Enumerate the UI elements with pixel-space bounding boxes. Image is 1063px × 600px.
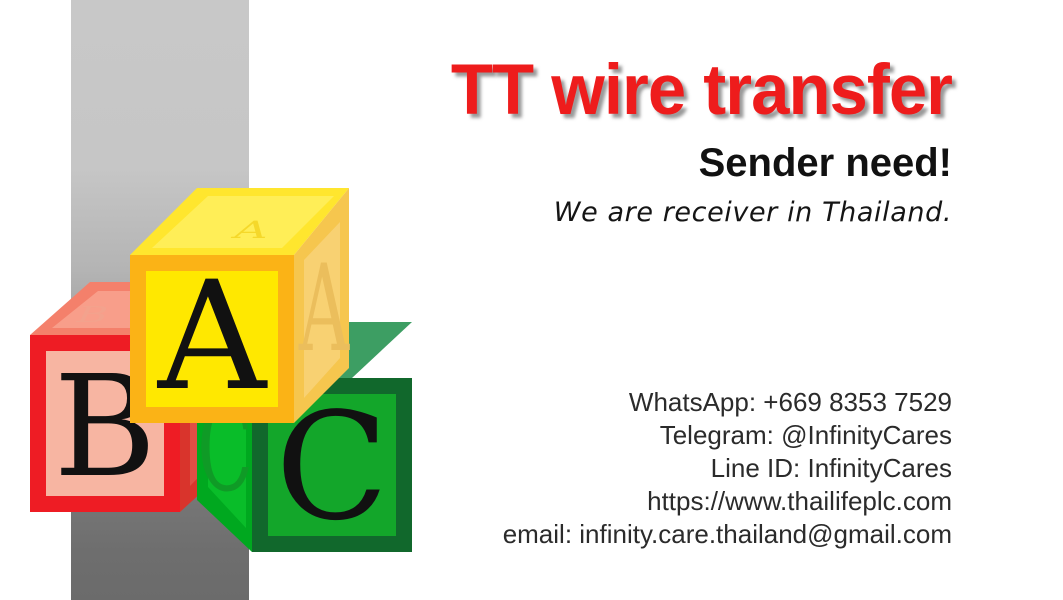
contact-line-telegram: Telegram: @InfinityCares — [252, 419, 952, 452]
headline-group: TT wire transfer Sender need! We are rec… — [252, 0, 952, 228]
promo-banner: B B C C C — [0, 0, 1063, 600]
contact-details: WhatsApp: +669 8353 7529 Telegram: @Infi… — [252, 386, 952, 551]
subheadline: Sender need! — [252, 125, 952, 184]
tagline: We are receiver in Thailand. — [252, 184, 952, 228]
contact-line-whatsapp: WhatsApp: +669 8353 7529 — [252, 386, 952, 419]
contact-line-website[interactable]: https://www.thailifeplc.com — [252, 485, 952, 518]
page-title: TT wire transfer — [273, 0, 952, 125]
svg-text:A: A — [298, 240, 350, 379]
contact-line-email[interactable]: email: infinity.care.thailand@gmail.com — [252, 518, 952, 551]
contact-line-lineid: Line ID: InfinityCares — [252, 452, 952, 485]
